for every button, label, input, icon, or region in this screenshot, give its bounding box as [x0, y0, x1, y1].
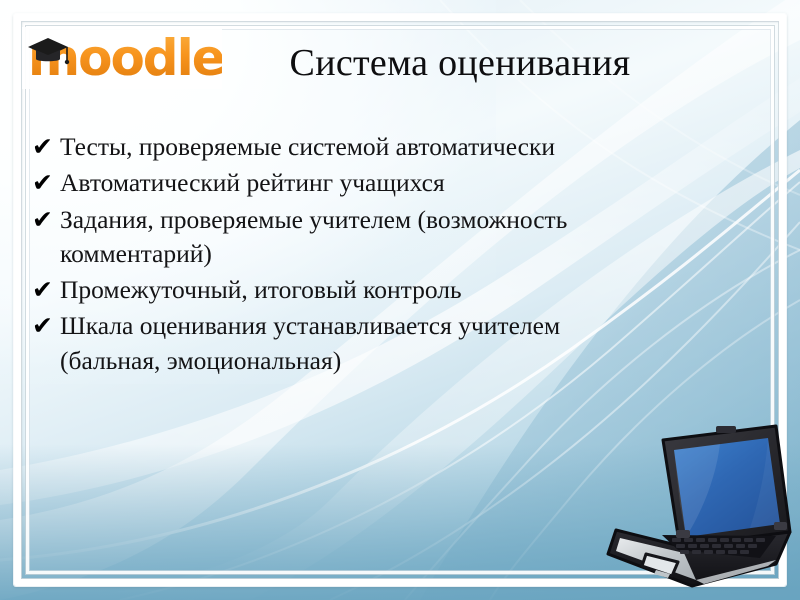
- laptop-hinge-left: [676, 530, 690, 538]
- slide-canvas: moodle Система оценивания ✔ Тесты, прове…: [0, 0, 800, 600]
- moodle-wordmark-icon: moodle: [22, 27, 222, 89]
- check-icon: ✔: [32, 203, 56, 237]
- laptop-illustration: [600, 404, 796, 594]
- list-item-label-continuation: (бальная, эмоциональная): [60, 344, 722, 378]
- laptop-hinge-right: [774, 522, 787, 530]
- list-item: ✔ Задания, проверяемые учителем (возможн…: [32, 203, 722, 272]
- laptop-icon: [600, 404, 796, 594]
- list-item-label: Промежуточный, итоговый контроль: [60, 273, 722, 307]
- laptop-lid-latch: [716, 426, 736, 433]
- bullet-list: ✔ Тесты, проверяемые системой автоматиче…: [32, 130, 722, 380]
- check-icon: ✔: [32, 309, 56, 343]
- moodle-logo: moodle: [22, 27, 222, 89]
- check-icon: ✔: [32, 273, 56, 307]
- list-item: ✔ Автоматический рейтинг учащихся: [32, 166, 722, 200]
- list-item-label: Автоматический рейтинг учащихся: [60, 166, 722, 200]
- list-item-label: Задания, проверяемые учителем (возможнос…: [60, 203, 722, 237]
- list-item: ✔ Тесты, проверяемые системой автоматиче…: [32, 130, 722, 164]
- list-item-label-continuation: комментарий): [60, 237, 722, 271]
- list-item: ✔ Промежуточный, итоговый контроль: [32, 273, 722, 307]
- check-icon: ✔: [32, 130, 56, 164]
- list-item-label: Шкала оценивания устанавливается учителе…: [60, 309, 722, 343]
- page-title: Система оценивания: [200, 44, 720, 84]
- list-item-label: Тесты, проверяемые системой автоматическ…: [60, 130, 722, 164]
- list-item: ✔ Шкала оценивания устанавливается учите…: [32, 309, 722, 378]
- check-icon: ✔: [32, 166, 56, 200]
